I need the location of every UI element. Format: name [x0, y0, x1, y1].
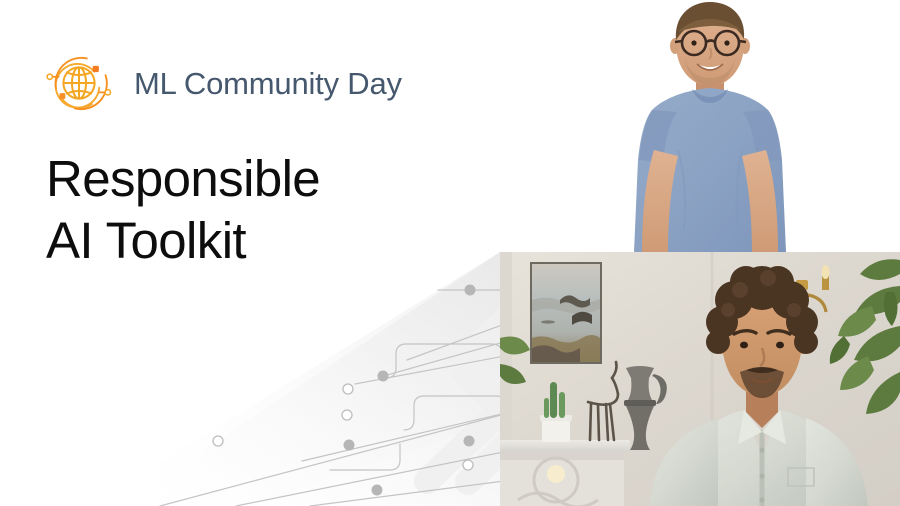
decor-node-hollow: [213, 436, 223, 446]
lit-candle: [547, 465, 565, 483]
seascape-painting: [530, 262, 602, 364]
decor-node-hollow: [342, 410, 352, 420]
speaker-top-portrait: [600, 0, 900, 252]
head: [670, 2, 750, 86]
brand-lockup: ML Community Day: [40, 44, 402, 122]
orbit-node-square: [60, 93, 66, 99]
shirt-button: [759, 473, 764, 478]
brand-name: ML Community Day: [134, 68, 402, 99]
video-tile-speaker-top[interactable]: [600, 0, 900, 252]
orbit-node-hollow: [105, 90, 110, 95]
decor-nodes: [213, 285, 476, 496]
shirt-button: [759, 497, 764, 502]
page-title: Responsible AI Toolkit: [46, 148, 320, 272]
decor-node-filled: [378, 371, 389, 382]
globe-orbit-icon: [40, 44, 118, 122]
marble-mantel: [500, 440, 630, 506]
speaker-bottom-webcam: [500, 252, 900, 506]
orbit-node-hollow: [47, 74, 52, 79]
page-title-line-2: AI Toolkit: [46, 210, 320, 272]
shirt-button: [759, 447, 764, 452]
decor-node-hollow: [343, 384, 353, 394]
slide-root: ML Community Day Responsible AI Toolkit: [0, 0, 900, 506]
decor-node-filled: [464, 436, 475, 447]
page-title-line-1: Responsible: [46, 150, 320, 207]
decor-node-filled: [372, 485, 383, 496]
decor-node-filled: [465, 285, 476, 296]
decor-node-hollow: [463, 460, 473, 470]
video-tile-speaker-bottom[interactable]: [500, 252, 900, 506]
decor-node-filled: [344, 440, 355, 451]
decor-wedge: [90, 252, 500, 506]
orbit-node-square: [93, 66, 99, 72]
